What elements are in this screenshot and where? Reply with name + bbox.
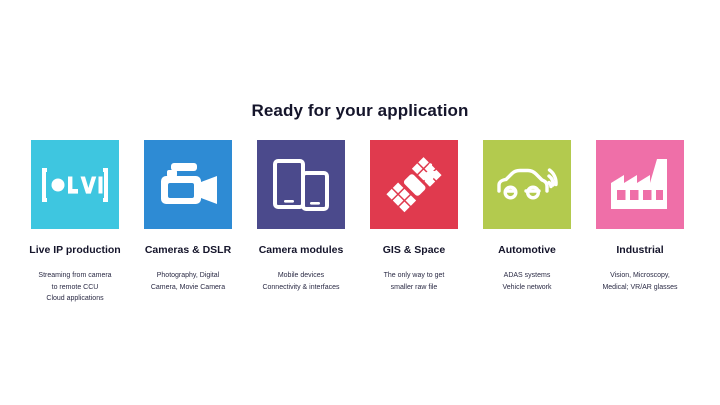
- card-icon-tile: [31, 140, 119, 229]
- card-title: Live IP production: [29, 244, 120, 257]
- card-gis-space[interactable]: GIS & Space The only way to get smaller …: [370, 140, 458, 305]
- card-icon-tile: [144, 140, 232, 229]
- card-body-line: Vision, Microscopy,: [602, 270, 677, 282]
- card-icon-tile: [483, 140, 571, 229]
- card-body-line: Vehicle network: [502, 282, 551, 294]
- card-body-line: Photography, Digital: [151, 270, 225, 282]
- card-icon-tile: [596, 140, 684, 229]
- card-body-line: Connectivity & interfaces: [262, 282, 339, 294]
- card-title: Industrial: [616, 244, 663, 257]
- card-body-line: smaller raw file: [384, 282, 445, 294]
- card-camera-modules[interactable]: Camera modules Mobile devices Connectivi…: [257, 140, 345, 305]
- card-body-line: Camera, Movie Camera: [151, 282, 225, 294]
- card-body: Photography, Digital Camera, Movie Camer…: [151, 270, 225, 293]
- card-title: Automotive: [498, 244, 556, 257]
- camcorder-icon: [157, 161, 219, 209]
- card-live-ip-production[interactable]: Live IP production Streaming from camera…: [31, 140, 119, 305]
- card-body: Streaming from camera to remote CCU Clou…: [38, 270, 111, 305]
- card-body-line: ADAS systems: [502, 270, 551, 282]
- factory-icon: [611, 159, 669, 211]
- card-body-line: The only way to get: [384, 270, 445, 282]
- card-body: Vision, Microscopy, Medical; VR/AR glass…: [602, 270, 677, 293]
- card-body: ADAS systems Vehicle network: [502, 270, 551, 293]
- card-body-line: Cloud applications: [38, 293, 111, 305]
- card-icon-tile: [257, 140, 345, 229]
- application-cards: Live IP production Streaming from camera…: [31, 140, 689, 305]
- card-body-line: Mobile devices: [262, 270, 339, 282]
- card-title: Cameras & DSLR: [145, 244, 231, 257]
- card-cameras-dslr[interactable]: Cameras & DSLR Photography, Digital Came…: [144, 140, 232, 305]
- live-badge-icon: [42, 168, 108, 202]
- card-automotive[interactable]: Automotive ADAS systems Vehicle network: [483, 140, 571, 305]
- card-industrial[interactable]: Industrial Vision, Microscopy, Medical; …: [596, 140, 684, 305]
- car-signal-icon: [495, 165, 559, 205]
- card-body: Mobile devices Connectivity & interfaces: [262, 270, 339, 293]
- card-title: GIS & Space: [383, 244, 445, 257]
- satellite-icon: [384, 155, 444, 215]
- card-title: Camera modules: [259, 244, 344, 257]
- card-body-line: Medical; VR/AR glasses: [602, 282, 677, 294]
- card-body-line: to remote CCU: [38, 282, 111, 294]
- card-body: The only way to get smaller raw file: [384, 270, 445, 293]
- card-body-line: Streaming from camera: [38, 270, 111, 282]
- page-title: Ready for your application: [0, 101, 720, 121]
- card-icon-tile: [370, 140, 458, 229]
- tablet-phone-icon: [273, 159, 329, 211]
